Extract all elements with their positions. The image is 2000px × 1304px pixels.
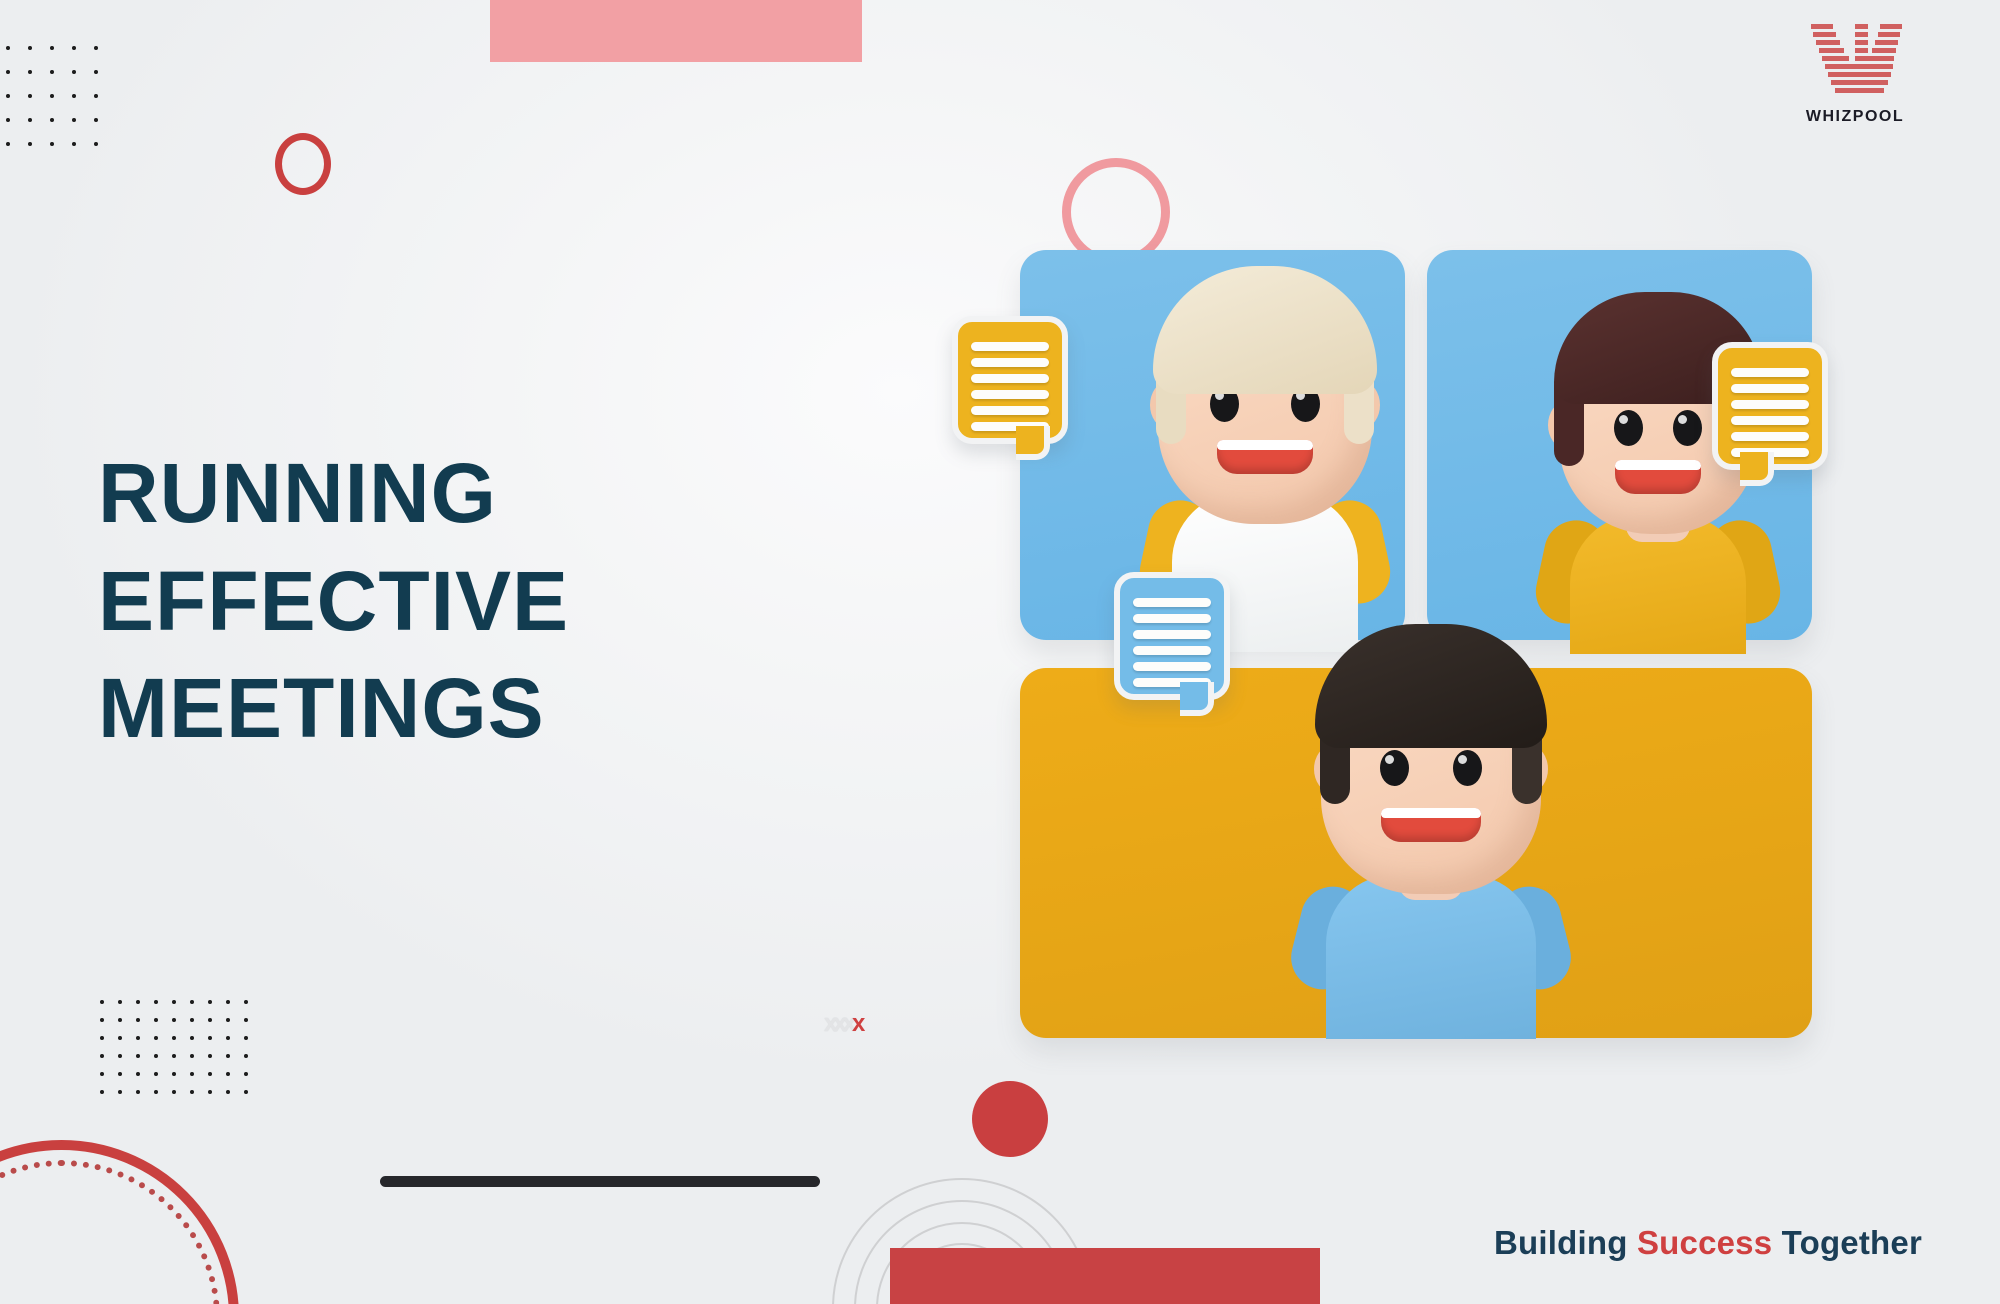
- x-marks-decoration: xxxx: [824, 1012, 861, 1036]
- dot-grid-bottom-left: [100, 1000, 255, 1140]
- x-mark-gray: xxx: [824, 1012, 852, 1036]
- title-line-1: RUNNING: [98, 440, 718, 548]
- chat-bubble-bottom: [1114, 572, 1230, 700]
- red-circle-outline-decoration: [275, 133, 331, 195]
- brand-name-label: WHIZPOOL: [1788, 108, 1922, 126]
- person-dark-hair: [1266, 456, 1596, 1016]
- pink-rectangle-decoration: [490, 0, 862, 62]
- red-rectangle-decoration: [890, 1248, 1320, 1304]
- title-line-2: EFFECTIVE: [98, 548, 718, 656]
- red-dot-decoration: [972, 1081, 1048, 1157]
- title-line-3: MEETINGS: [98, 655, 718, 763]
- dark-rule-decoration: [380, 1176, 820, 1187]
- brand-logo: WHIZPOOL: [1788, 24, 1922, 126]
- chat-bubble-left: [952, 316, 1068, 444]
- dot-grid-top-left: [0, 46, 114, 176]
- whizpool-w-icon: [1797, 24, 1913, 96]
- tagline-part-2: Together: [1782, 1224, 1922, 1261]
- x-mark-red: x: [852, 1012, 861, 1036]
- slide-canvas: xxxx WHIZPOOL RUNNING EFF: [0, 0, 2000, 1304]
- brand-tagline: Building Success Together: [1494, 1224, 1922, 1262]
- tagline-part-1: Building: [1494, 1224, 1628, 1261]
- page-title: RUNNING EFFECTIVE MEETINGS: [98, 440, 718, 763]
- tagline-highlight: Success: [1637, 1224, 1772, 1261]
- meeting-illustration: [1000, 140, 1940, 1080]
- chat-bubble-right: [1712, 342, 1828, 470]
- dotted-ring-decoration: [0, 1160, 220, 1304]
